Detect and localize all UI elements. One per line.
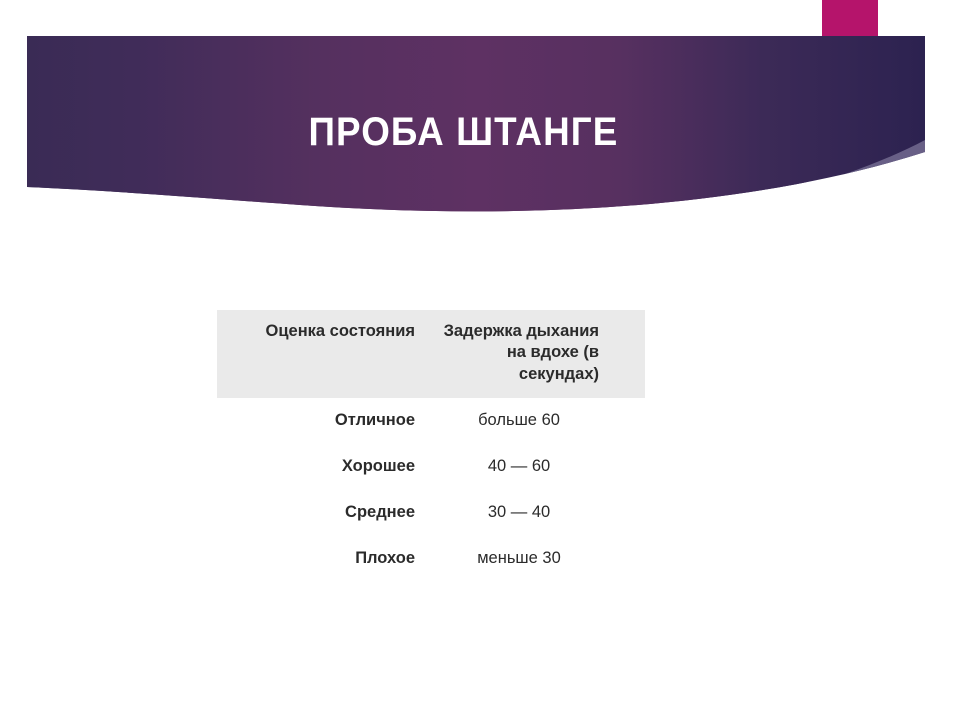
cell-value: 40 — 60 [429, 444, 645, 490]
table-body: Отличное больше 60 Хорошее 40 — 60 Средн… [217, 398, 645, 582]
table-header-row: Оценка состояния Задержка дыхания на вдо… [217, 310, 645, 398]
cell-state: Отличное [217, 398, 429, 444]
header-banner: ПРОБА ШТАНГЕ [0, 0, 960, 230]
column-header-state: Оценка состояния [217, 310, 429, 398]
table-row: Отличное больше 60 [217, 398, 645, 444]
cell-state: Среднее [217, 490, 429, 536]
banner-body-overlay [27, 36, 925, 230]
table-row: Среднее 30 — 40 [217, 490, 645, 536]
table-header: Оценка состояния Задержка дыхания на вдо… [217, 310, 645, 398]
column-header-line-3: секундах) [519, 365, 599, 383]
cell-value: меньше 30 [429, 536, 645, 582]
cell-state: Плохое [217, 536, 429, 582]
column-header-breath-hold: Задержка дыхания на вдохе (в секундах) [429, 310, 645, 398]
slide-canvas: ПРОБА ШТАНГЕ Оценка состояния Задержка д… [0, 0, 960, 720]
column-header-line-1: Задержка дыхания [444, 322, 599, 340]
table-row: Хорошее 40 — 60 [217, 444, 645, 490]
accent-bar-top-icon [822, 0, 878, 36]
cell-value: 30 — 40 [429, 490, 645, 536]
cell-state: Хорошее [217, 444, 429, 490]
cell-value: больше 60 [429, 398, 645, 444]
header-banner-graphic [0, 0, 960, 230]
assessment-table: Оценка состояния Задержка дыхания на вдо… [217, 310, 645, 582]
table-row: Плохое меньше 30 [217, 536, 645, 582]
column-header-line-2: на вдохе (в [507, 343, 599, 361]
